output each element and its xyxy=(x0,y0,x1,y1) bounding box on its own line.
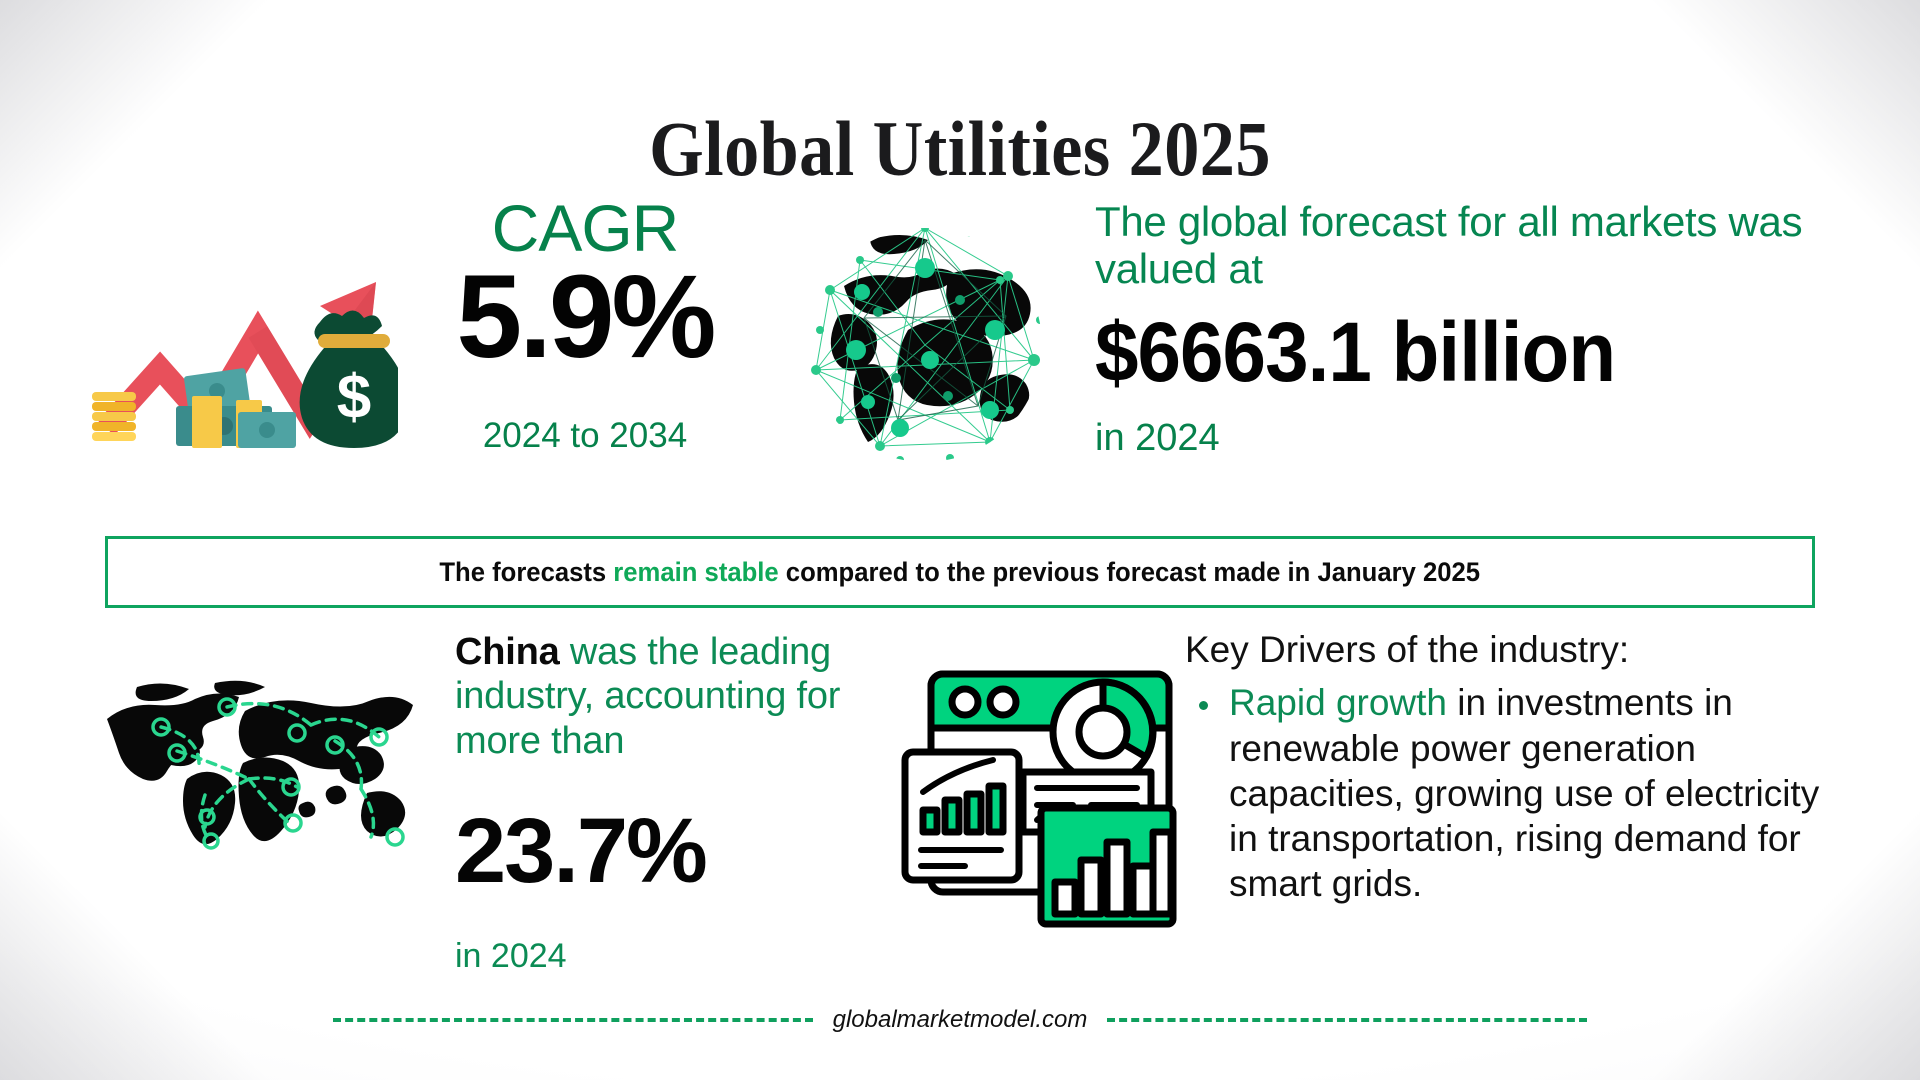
china-block: China was the leading industry, accounti… xyxy=(455,630,905,976)
banner-before: The forecasts xyxy=(440,557,614,587)
list-item: Rapid growth in investments in renewable… xyxy=(1185,680,1845,906)
forecast-block: The global forecast for all markets was … xyxy=(1095,198,1835,460)
footer-rule-right xyxy=(1107,1018,1587,1022)
analytics-dashboard-illustration xyxy=(895,650,1180,930)
row-china-drivers: China was the leading industry, accounti… xyxy=(0,640,1920,960)
forecast-lead-text: The global forecast for all markets was … xyxy=(1095,198,1835,292)
forecast-year: in 2024 xyxy=(1095,417,1835,460)
key-drivers-list: Rapid growth in investments in renewable… xyxy=(1185,680,1845,906)
row-cagr-forecast: $ CAGR 5.9% 2024 to 2034 xyxy=(0,210,1920,530)
stability-banner: The forecasts remain stable compared to … xyxy=(105,536,1815,608)
footer-site-name: globalmarketmodel.com xyxy=(833,1006,1088,1034)
stability-banner-text: The forecasts remain stable compared to … xyxy=(440,557,1481,588)
cagr-value: 5.9% xyxy=(400,258,770,376)
china-lead-text: China was the leading industry, accounti… xyxy=(455,630,905,763)
china-year: in 2024 xyxy=(455,937,905,976)
cagr-block: CAGR 5.9% 2024 to 2034 xyxy=(400,195,770,456)
banner-highlight: remain stable xyxy=(614,557,779,587)
key-drivers-title: Key Drivers of the industry: xyxy=(1185,628,1845,672)
china-bold-label: China xyxy=(455,631,560,673)
page-title: Global Utilities 2025 xyxy=(96,104,1824,194)
cagr-period: 2024 to 2034 xyxy=(400,416,770,456)
driver-highlight: Rapid growth xyxy=(1229,682,1447,723)
footer-rule-left xyxy=(333,1018,813,1022)
banner-after: compared to the previous forecast made i… xyxy=(779,557,1480,587)
forecast-value: $6663.1 billion xyxy=(1095,308,1783,397)
svg-text:$: $ xyxy=(337,363,371,432)
network-globe-illustration xyxy=(800,220,1050,470)
growth-chart-money-illustration: $ xyxy=(88,260,398,450)
china-value: 23.7% xyxy=(455,805,905,897)
footer: globalmarketmodel.com xyxy=(0,1006,1920,1034)
infographic-canvas: Global Utilities 2025 xyxy=(0,0,1920,1080)
key-drivers-block: Key Drivers of the industry: Rapid growt… xyxy=(1185,628,1845,906)
world-map-network-illustration xyxy=(95,675,425,850)
